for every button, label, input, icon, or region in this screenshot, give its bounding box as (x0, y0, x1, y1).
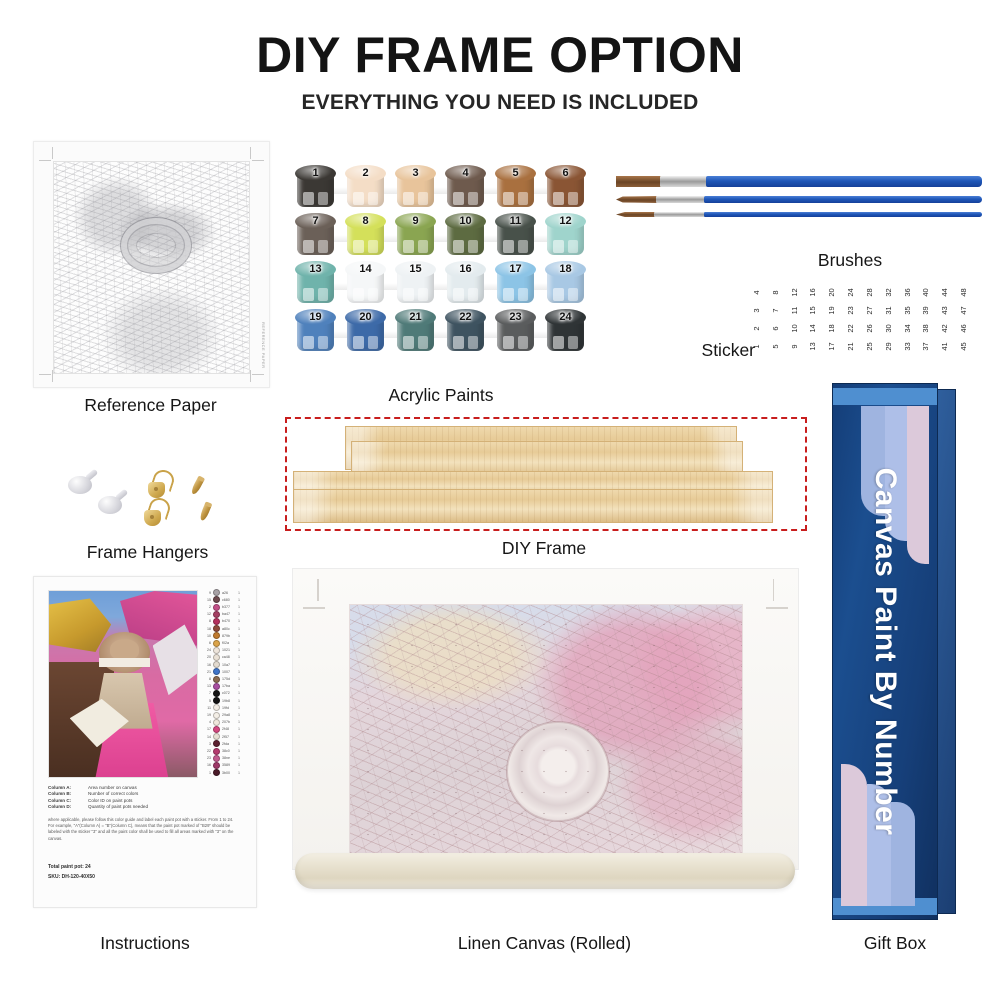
legend-code: 38ne (222, 756, 236, 760)
legend-code: f02a (222, 641, 236, 645)
instructions-card: 9a26115c68012b377112ba4718b470118a80c110… (33, 576, 257, 908)
wall-hook-icon (98, 496, 122, 518)
legend-number: 18 (204, 627, 211, 631)
paint-pot: 8 (345, 213, 386, 257)
sticker-number: 39 (921, 304, 930, 317)
paint-pot-rail (301, 283, 581, 290)
sticker-number: 23 (846, 304, 855, 317)
legend-code: 3589 (222, 763, 236, 767)
paint-pot-number: 6 (545, 164, 586, 181)
sticker-number: 19 (827, 304, 836, 317)
legend-swatch (213, 755, 220, 762)
legend-swatch (213, 625, 220, 632)
legend-row: 172f481 (204, 727, 248, 732)
sticker-number: 46 (959, 322, 968, 335)
d-ring-hanger-icon (148, 472, 170, 498)
linen-canvas-sheet (292, 568, 799, 870)
sticker-number: 15 (808, 304, 817, 317)
brushes-caption: Brushes (760, 250, 940, 271)
sticker-number: 9 (790, 340, 799, 353)
legend-swatch (213, 690, 220, 697)
paint-pot-row: 789101112 (295, 213, 587, 259)
legend-code: 38c0 (222, 749, 236, 753)
legend-swatch (213, 632, 220, 639)
sticker-number: 14 (808, 322, 817, 335)
legend-quantity: 1 (238, 612, 243, 616)
sticker-row: 3711151923273135394347 (750, 306, 970, 315)
instructions-column-key-text: Column D: (48, 804, 88, 810)
legend-code: c680 (222, 598, 236, 602)
legend-number: 11 (204, 706, 211, 710)
paint-pot: 1 (295, 165, 336, 209)
sticker-row: 159131721252933374145 (750, 342, 970, 351)
sticker-number: 38 (921, 322, 930, 335)
legend-swatch (213, 661, 220, 668)
paint-pot-rail (301, 331, 581, 338)
legend-code: 29a8 (222, 713, 236, 717)
brush-round (616, 196, 982, 203)
legend-row: 2338ne1 (204, 756, 248, 761)
sticker-number: 35 (903, 304, 912, 317)
frame-plank (293, 489, 773, 523)
d-ring-hanger-icon (144, 500, 166, 526)
legend-number: 5 (204, 699, 211, 703)
legend-code: ca48 (222, 655, 236, 659)
legend-quantity: 1 (238, 677, 243, 681)
paint-pot: 5 (495, 165, 536, 209)
sticker-number: 41 (940, 340, 949, 353)
paint-pot: 20 (345, 309, 386, 353)
sticker-number: 4 (752, 286, 761, 299)
sticker-number: 20 (827, 286, 836, 299)
gift-box-side-panel (936, 389, 956, 914)
legend-quantity: 1 (238, 763, 243, 767)
legend-quantity: 1 (238, 706, 243, 710)
legend-row: 1610a71 (204, 662, 248, 667)
paint-pot: 24 (545, 309, 586, 353)
legend-quantity: 1 (238, 663, 243, 667)
legend-quantity: 1 (238, 720, 243, 724)
legend-quantity: 1 (238, 619, 243, 623)
instructions-preview-artwork (48, 590, 198, 778)
paint-pot-number: 10 (445, 212, 486, 229)
legend-code: 2fda (222, 742, 236, 746)
sticker-number: 29 (884, 340, 893, 353)
legend-row: 1635891 (204, 763, 248, 768)
legend-quantity: 1 (238, 684, 243, 688)
paint-pot: 21 (395, 309, 436, 353)
sticker-number: 45 (959, 340, 968, 353)
sticker-number: 16 (808, 286, 817, 299)
legend-quantity: 1 (238, 641, 243, 645)
paint-pot-number: 4 (445, 164, 486, 181)
legend-swatch (213, 611, 220, 618)
sticker-row: 4812162024283236404448 (750, 288, 970, 297)
paint-pot-rail (301, 187, 581, 194)
legend-row: 519b81 (204, 698, 248, 703)
legend-code: 1007 (222, 670, 236, 674)
legend-quantity: 1 (238, 691, 243, 695)
legend-number: 4 (204, 720, 211, 724)
instructions-column-desc: Quantity of paint pots needed (88, 804, 148, 810)
brush-liner (616, 212, 982, 217)
canvas-number-dots (350, 605, 742, 853)
paint-pot: 11 (495, 213, 536, 257)
gift-box-caption: Gift Box (820, 933, 970, 954)
legend-number: 16 (204, 663, 211, 667)
canvas-rolled-edge (295, 853, 795, 889)
paint-pot: 15 (395, 261, 436, 305)
legend-code: 175d (222, 677, 236, 681)
sticker-number: 34 (903, 322, 912, 335)
sticker-number: 31 (884, 304, 893, 317)
legend-swatch (213, 740, 220, 747)
legend-row: 8b4701 (204, 619, 248, 624)
sticker-row: 2610141822263034384246 (750, 324, 970, 333)
legend-quantity: 1 (238, 771, 243, 775)
legend-quantity: 1 (238, 655, 243, 659)
legend-number: 15 (204, 598, 211, 602)
paint-pot: 13 (295, 261, 336, 305)
legend-swatch (213, 596, 220, 603)
sticker-number: 28 (865, 286, 874, 299)
paint-pot-number: 9 (395, 212, 436, 229)
sticker-number: 24 (846, 286, 855, 299)
paint-pot-rail (301, 235, 581, 242)
legend-quantity: 1 (238, 699, 243, 703)
paint-pot: 2 (345, 165, 386, 209)
legend-swatch (213, 640, 220, 647)
legend-row: 1317ba1 (204, 684, 248, 689)
legend-swatch (213, 589, 220, 596)
sticker-number: 42 (940, 322, 949, 335)
sticker-number: 12 (790, 286, 799, 299)
legend-number: 3 (204, 742, 211, 746)
reference-paper-side-text: REFERENCE PAPER (261, 322, 266, 369)
legend-number: 17 (204, 727, 211, 731)
legend-code: 10a7 (222, 663, 236, 667)
legend-swatch (213, 704, 220, 711)
legend-number: 19 (204, 713, 211, 717)
legend-row: 10879b1 (204, 633, 248, 638)
legend-swatch (213, 726, 220, 733)
legend-swatch (213, 676, 220, 683)
legend-row: 12ba471 (204, 612, 248, 617)
sticker-number: 44 (940, 286, 949, 299)
legend-quantity: 1 (238, 627, 243, 631)
legend-code: c072 (222, 691, 236, 695)
legend-quantity: 1 (238, 605, 243, 609)
instructions-column-key: Column A:Area number on canvasColumn B:N… (48, 785, 243, 811)
linen-canvas-caption: Linen Canvas (Rolled) (292, 933, 797, 954)
sticker-number: 2 (752, 322, 761, 335)
sticker-number: 5 (771, 340, 780, 353)
legend-swatch (213, 668, 220, 675)
legend-row: 2410211 (204, 648, 248, 653)
legend-code: a80c (222, 627, 236, 631)
paint-pot-number: 17 (495, 260, 536, 277)
legend-quantity: 1 (238, 634, 243, 638)
legend-number: 8 (204, 677, 211, 681)
legend-number: 1 (204, 771, 211, 775)
sticker-number: 27 (865, 304, 874, 317)
legend-swatch (213, 733, 220, 740)
legend-swatch (213, 683, 220, 690)
paint-pot-number: 19 (295, 308, 336, 325)
legend-code: ba47 (222, 612, 236, 616)
legend-row: 7c0721 (204, 691, 248, 696)
legend-code: 19fd (222, 706, 236, 710)
legend-number: 16 (204, 763, 211, 767)
legend-quantity: 1 (238, 670, 243, 674)
legend-swatch (213, 719, 220, 726)
legend-swatch (213, 712, 220, 719)
paint-pot-number: 22 (445, 308, 486, 325)
legend-row: 18a80c1 (204, 626, 248, 631)
paint-pot-number: 23 (495, 308, 536, 325)
legend-code: 2f48 (222, 727, 236, 731)
legend-quantity: 1 (238, 598, 243, 602)
page-title: DIY FRAME OPTION (0, 26, 1000, 84)
paint-pot: 23 (495, 309, 536, 353)
wall-hook-icon (68, 476, 92, 498)
sticker-number: 37 (921, 340, 930, 353)
paint-pot-number: 3 (395, 164, 436, 181)
legend-quantity: 1 (238, 742, 243, 746)
instructions-total-paint-pot: Total paint pot: 24 (48, 863, 91, 871)
gift-box-front-panel: Canvas Paint By Number (832, 383, 938, 920)
legend-row: 1119fd1 (204, 705, 248, 710)
sticker-number: 25 (865, 340, 874, 353)
legend-number: 2 (204, 605, 211, 609)
legend-number: 7 (204, 691, 211, 695)
legend-row: 4207b1 (204, 720, 248, 725)
paint-pot-number: 1 (295, 164, 336, 181)
paint-pot-number: 20 (345, 308, 386, 325)
reference-paper-linework (53, 161, 250, 374)
legend-row: 15c6801 (204, 597, 248, 602)
legend-swatch (213, 654, 220, 661)
legend-code: b470 (222, 619, 236, 623)
paint-pot: 10 (445, 213, 486, 257)
legend-row: 2238c01 (204, 748, 248, 753)
brushes-group (616, 172, 982, 242)
instructions-color-legend: 9a26115c68012b377112ba4718b470118a80c110… (204, 590, 248, 790)
legend-number: 22 (204, 749, 211, 753)
paint-pot-number: 2 (345, 164, 386, 181)
screw-icon (199, 501, 213, 521)
sticker-number: 48 (959, 286, 968, 299)
legend-number: 8 (204, 619, 211, 623)
paint-pot-number: 24 (545, 308, 586, 325)
gift-box-label: Canvas Paint By Number (833, 384, 937, 919)
legend-number: 9 (204, 591, 211, 595)
linen-canvas-artwork (349, 604, 743, 854)
legend-swatch (213, 748, 220, 755)
sticker-number: 7 (771, 304, 780, 317)
sticker-number: 36 (903, 286, 912, 299)
paint-pot: 18 (545, 261, 586, 305)
legend-quantity: 1 (238, 735, 243, 739)
sticker-number: 32 (884, 286, 893, 299)
screw-icon (190, 475, 205, 495)
legend-swatch (213, 647, 220, 654)
infographic-root: DIY FRAME OPTION EVERYTHING YOU NEED IS … (0, 0, 1000, 1000)
legend-code: 207b (222, 720, 236, 724)
reference-paper-image: REFERENCE PAPER (33, 141, 270, 388)
paint-pot-row: 192021222324 (295, 309, 587, 355)
sticker-sheet: 4812162024283236404448371115192327313539… (750, 288, 970, 360)
legend-swatch (213, 762, 220, 769)
paint-pot-number: 12 (545, 212, 586, 229)
legend-row: 2110071 (204, 669, 248, 674)
sticker-number: 21 (846, 340, 855, 353)
paint-pot-number: 7 (295, 212, 336, 229)
sticker-number: 30 (884, 322, 893, 335)
sticker-number: 40 (921, 286, 930, 299)
legend-number: 14 (204, 735, 211, 739)
legend-row: 8175d1 (204, 676, 248, 681)
paint-pot: 17 (495, 261, 536, 305)
legend-code: 3b00 (222, 771, 236, 775)
paint-pot: 19 (295, 309, 336, 353)
paint-pot-number: 11 (495, 212, 536, 229)
legend-number: 21 (204, 670, 211, 674)
diy-frame-highlight-box (285, 417, 807, 531)
instructions-caption: Instructions (25, 933, 265, 954)
sticker-number: 47 (959, 304, 968, 317)
legend-row: 20ca481 (204, 655, 248, 660)
sticker-number: 17 (827, 340, 836, 353)
paint-pot-row: 123456 (295, 165, 587, 211)
paint-pot: 7 (295, 213, 336, 257)
sticker-number: 6 (771, 322, 780, 335)
legend-number: 6 (204, 641, 211, 645)
paint-pot: 16 (445, 261, 486, 305)
legend-quantity: 1 (238, 756, 243, 760)
sticker-number: 22 (846, 322, 855, 335)
legend-swatch (213, 604, 220, 611)
legend-quantity: 1 (238, 591, 243, 595)
gift-box-image: Canvas Paint By Number (832, 383, 954, 918)
legend-number: 20 (204, 655, 211, 659)
sticker-number: 10 (790, 322, 799, 335)
paint-pot-row: 131415161718 (295, 261, 587, 307)
legend-code: b377 (222, 605, 236, 609)
legend-code: a26 (222, 591, 236, 595)
reference-paper-caption: Reference Paper (33, 395, 268, 416)
paint-pot-number: 16 (445, 260, 486, 277)
sticker-number: 43 (940, 304, 949, 317)
legend-code: 879b (222, 634, 236, 638)
sticker-number: 26 (865, 322, 874, 335)
paint-pot: 14 (345, 261, 386, 305)
page-subtitle: EVERYTHING YOU NEED IS INCLUDED (0, 91, 1000, 115)
paint-pot-number: 18 (545, 260, 586, 277)
paint-pot: 22 (445, 309, 486, 353)
sticker-number: 11 (790, 304, 799, 317)
sticker-number: 8 (771, 286, 780, 299)
legend-number: 12 (204, 612, 211, 616)
legend-quantity: 1 (238, 749, 243, 753)
legend-quantity: 1 (238, 713, 243, 717)
legend-code: 2f57 (222, 735, 236, 739)
legend-code: 17ba (222, 684, 236, 688)
legend-quantity: 1 (238, 648, 243, 652)
legend-row: 13b001 (204, 770, 248, 775)
legend-swatch (213, 697, 220, 704)
paint-pot: 4 (445, 165, 486, 209)
legend-number: 13 (204, 684, 211, 688)
sticker-number: 13 (808, 340, 817, 353)
legend-number: 10 (204, 634, 211, 638)
paint-pot-number: 5 (495, 164, 536, 181)
paint-pot: 3 (395, 165, 436, 209)
sticker-number: 18 (827, 322, 836, 335)
frame-hangers-group (60, 470, 235, 532)
legend-row: 32fda1 (204, 741, 248, 746)
paint-pot-number: 13 (295, 260, 336, 277)
sticker-number: 33 (903, 340, 912, 353)
paint-pot-number: 15 (395, 260, 436, 277)
legend-row: 2b3771 (204, 604, 248, 609)
sticker-caption: Sticker (660, 340, 755, 361)
paint-pot: 6 (545, 165, 586, 209)
brush-flat (616, 176, 982, 187)
acrylic-paints-group: 123456789101112131415161718192021222324 (295, 165, 587, 360)
legend-quantity: 1 (238, 727, 243, 731)
legend-row: 1929a81 (204, 712, 248, 717)
linen-canvas-group (292, 568, 797, 908)
paint-pot-number: 8 (345, 212, 386, 229)
paint-pot: 12 (545, 213, 586, 257)
paint-pot: 9 (395, 213, 436, 257)
legend-code: 19b8 (222, 699, 236, 703)
paint-pot-number: 14 (345, 260, 386, 277)
legend-row: 142f571 (204, 734, 248, 739)
acrylic-paints-caption: Acrylic Paints (295, 385, 587, 406)
legend-row: 6f02a1 (204, 640, 248, 645)
instructions-note: where applicable, please follow this col… (48, 817, 240, 842)
legend-number: 23 (204, 756, 211, 760)
legend-code: 1021 (222, 648, 236, 652)
sticker-number: 3 (752, 304, 761, 317)
legend-row: 9a261 (204, 590, 248, 595)
frame-hangers-caption: Frame Hangers (40, 542, 255, 563)
instructions-sku: SKU: DH-120-40X50 (48, 873, 95, 881)
diy-frame-caption: DIY Frame (285, 538, 803, 559)
legend-swatch (213, 769, 220, 776)
instructions-column-row: Column D:Quantity of paint pots needed (48, 804, 243, 810)
legend-swatch (213, 618, 220, 625)
paint-pot-number: 21 (395, 308, 436, 325)
legend-number: 24 (204, 648, 211, 652)
